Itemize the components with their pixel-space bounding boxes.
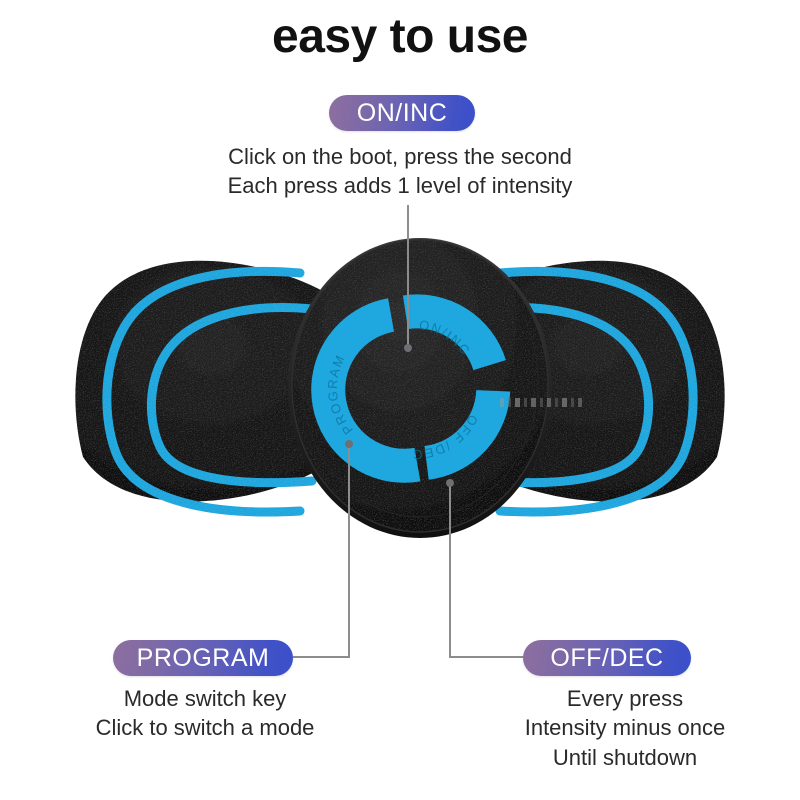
infographic-canvas: easy to use [0, 0, 800, 800]
leader-dot-off-dec [446, 479, 454, 487]
badge-off-dec[interactable]: OFF/DEC [523, 640, 691, 676]
badge-on-inc[interactable]: ON/INC [329, 95, 475, 131]
leader-line-off-dec-horizontal [449, 656, 525, 658]
caption-on-inc: Click on the boot, press the second Each… [0, 142, 800, 201]
device-illustration: ON/INC OFF /DEC PROGRAM [0, 225, 800, 585]
leader-line-on-inc [407, 205, 409, 350]
leader-line-program-vertical [348, 444, 350, 656]
leader-dot-program [345, 440, 353, 448]
caption-line: Until shutdown [475, 743, 775, 772]
caption-line: Mode switch key [20, 684, 390, 713]
caption-program: Mode switch key Click to switch a mode [20, 684, 390, 743]
caption-line: Click on the boot, press the second [0, 142, 800, 171]
caption-line: Click to switch a mode [20, 713, 390, 742]
badge-program[interactable]: PROGRAM [113, 640, 293, 676]
leader-line-off-dec-vertical [449, 483, 451, 656]
leader-line-program-horizontal [293, 656, 350, 658]
caption-line: Every press [475, 684, 775, 713]
caption-line: Each press adds 1 level of intensity [0, 171, 800, 200]
page-title: easy to use [0, 12, 800, 62]
leader-dot-on-inc [404, 344, 412, 352]
caption-line: Intensity minus once [475, 713, 775, 742]
caption-off-dec: Every press Intensity minus once Until s… [475, 684, 775, 772]
